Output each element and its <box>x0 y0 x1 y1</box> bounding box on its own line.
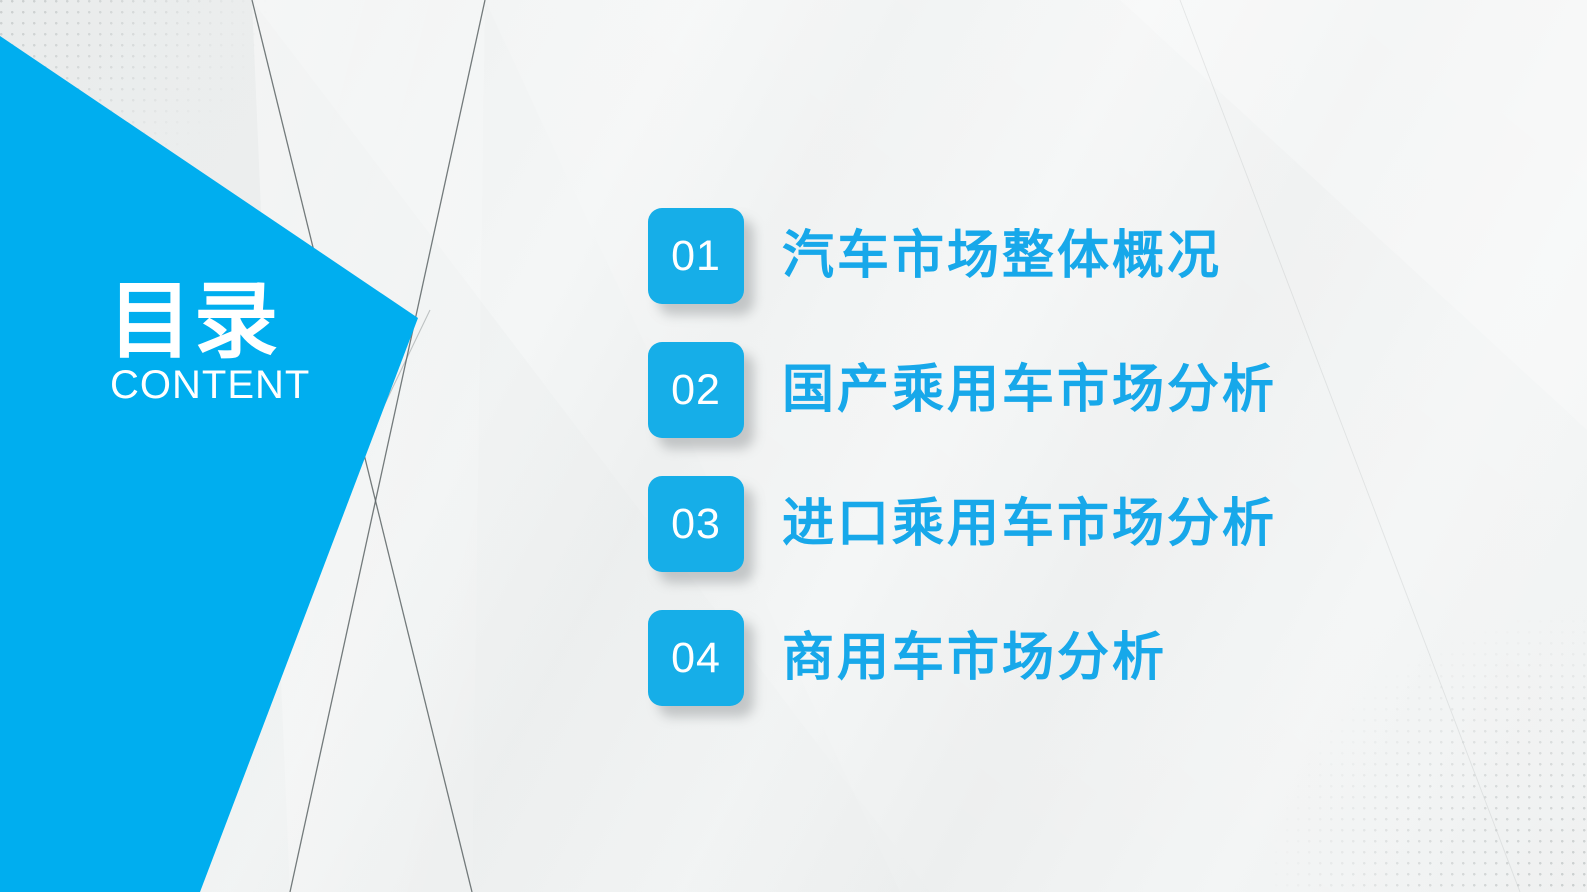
agenda-number-01: 01 <box>671 235 721 278</box>
content-slide: 目录 CONTENT 01 汽车市场整体概况 02 国产乘用车市场分析 03 进… <box>0 0 1587 892</box>
agenda-label-04[interactable]: 商用车市场分析 <box>782 632 1167 684</box>
agenda-number-badge-02[interactable]: 02 <box>648 342 744 438</box>
agenda-item-03[interactable]: 03 进口乘用车市场分析 <box>648 474 1348 574</box>
agenda-number-03: 03 <box>671 503 721 546</box>
blue-angled-banner <box>0 0 460 892</box>
agenda-list: 01 汽车市场整体概况 02 国产乘用车市场分析 03 进口乘用车市场分析 04… <box>648 206 1348 708</box>
agenda-item-02[interactable]: 02 国产乘用车市场分析 <box>648 340 1348 440</box>
agenda-number-04: 04 <box>671 637 721 680</box>
agenda-number-badge-04[interactable]: 04 <box>648 610 744 706</box>
agenda-label-02[interactable]: 国产乘用车市场分析 <box>782 364 1277 416</box>
agenda-number-badge-01[interactable]: 01 <box>648 208 744 304</box>
title-block: 目录 CONTENT <box>108 282 408 406</box>
page-subtitle: CONTENT <box>110 364 408 406</box>
agenda-number-02: 02 <box>671 369 721 412</box>
page-title: 目录 <box>108 282 408 362</box>
agenda-item-04[interactable]: 04 商用车市场分析 <box>648 608 1348 708</box>
agenda-label-03[interactable]: 进口乘用车市场分析 <box>782 498 1277 550</box>
agenda-number-badge-03[interactable]: 03 <box>648 476 744 572</box>
agenda-item-01[interactable]: 01 汽车市场整体概况 <box>648 206 1348 306</box>
agenda-label-01[interactable]: 汽车市场整体概况 <box>782 230 1222 282</box>
